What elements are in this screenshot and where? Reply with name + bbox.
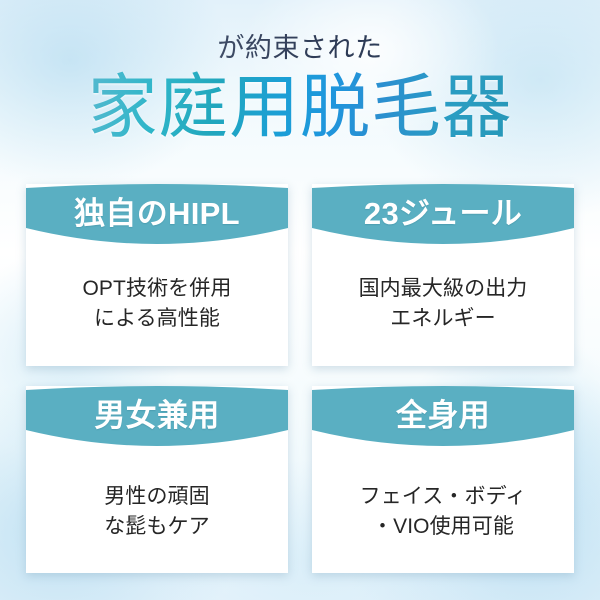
card-body-line: による高性能	[94, 304, 220, 334]
feature-card-joule: 23ジュール 国内最大級の出力 エネルギー	[312, 184, 574, 366]
card-body-line: ・VIO使用可能	[372, 512, 514, 542]
feature-card-fullbody: 全身用 フェイス・ボディ ・VIO使用可能	[312, 386, 574, 573]
card-header-label: 23ジュール	[312, 184, 574, 242]
card-header-banner: 23ジュール	[312, 184, 574, 256]
card-body: 国内最大級の出力 エネルギー	[312, 258, 574, 366]
card-header-label: 男女兼用	[26, 386, 288, 444]
card-header-banner: 男女兼用	[26, 386, 288, 458]
card-header-banner: 独自のHIPL	[26, 184, 288, 256]
card-body-line: エネルギー	[390, 304, 496, 334]
card-body-line: な髭もケア	[104, 512, 210, 542]
card-body-line: OPT技術を併用	[82, 274, 231, 304]
card-body-line: フェイス・ボディ	[360, 482, 527, 512]
feature-card-unisex: 男女兼用 男性の頑固 な髭もケア	[26, 386, 288, 573]
feature-card-hipl: 独自のHIPL OPT技術を併用 による高性能	[26, 184, 288, 366]
feature-card-grid: 独自のHIPL OPT技術を併用 による高性能 23ジュール 国内最大級の出力 …	[0, 184, 600, 576]
card-header-label: 全身用	[312, 386, 574, 444]
card-header-label: 独自のHIPL	[26, 184, 288, 242]
card-body: フェイス・ボディ ・VIO使用可能	[312, 460, 574, 573]
card-body: OPT技術を併用 による高性能	[26, 258, 288, 366]
ad-canvas: が約束された 家庭用脱毛器 独自のHIPL OPT技術を併用 による高性能 23…	[0, 0, 600, 600]
card-header-banner: 全身用	[312, 386, 574, 458]
card-body: 男性の頑固 な髭もケア	[26, 460, 288, 573]
card-body-line: 男性の頑固	[104, 482, 210, 512]
headline-block: が約束された 家庭用脱毛器	[0, 0, 600, 145]
page-title: 家庭用脱毛器	[0, 70, 600, 146]
card-body-line: 国内最大級の出力	[359, 274, 528, 304]
headline-kicker: が約束された	[0, 34, 600, 64]
